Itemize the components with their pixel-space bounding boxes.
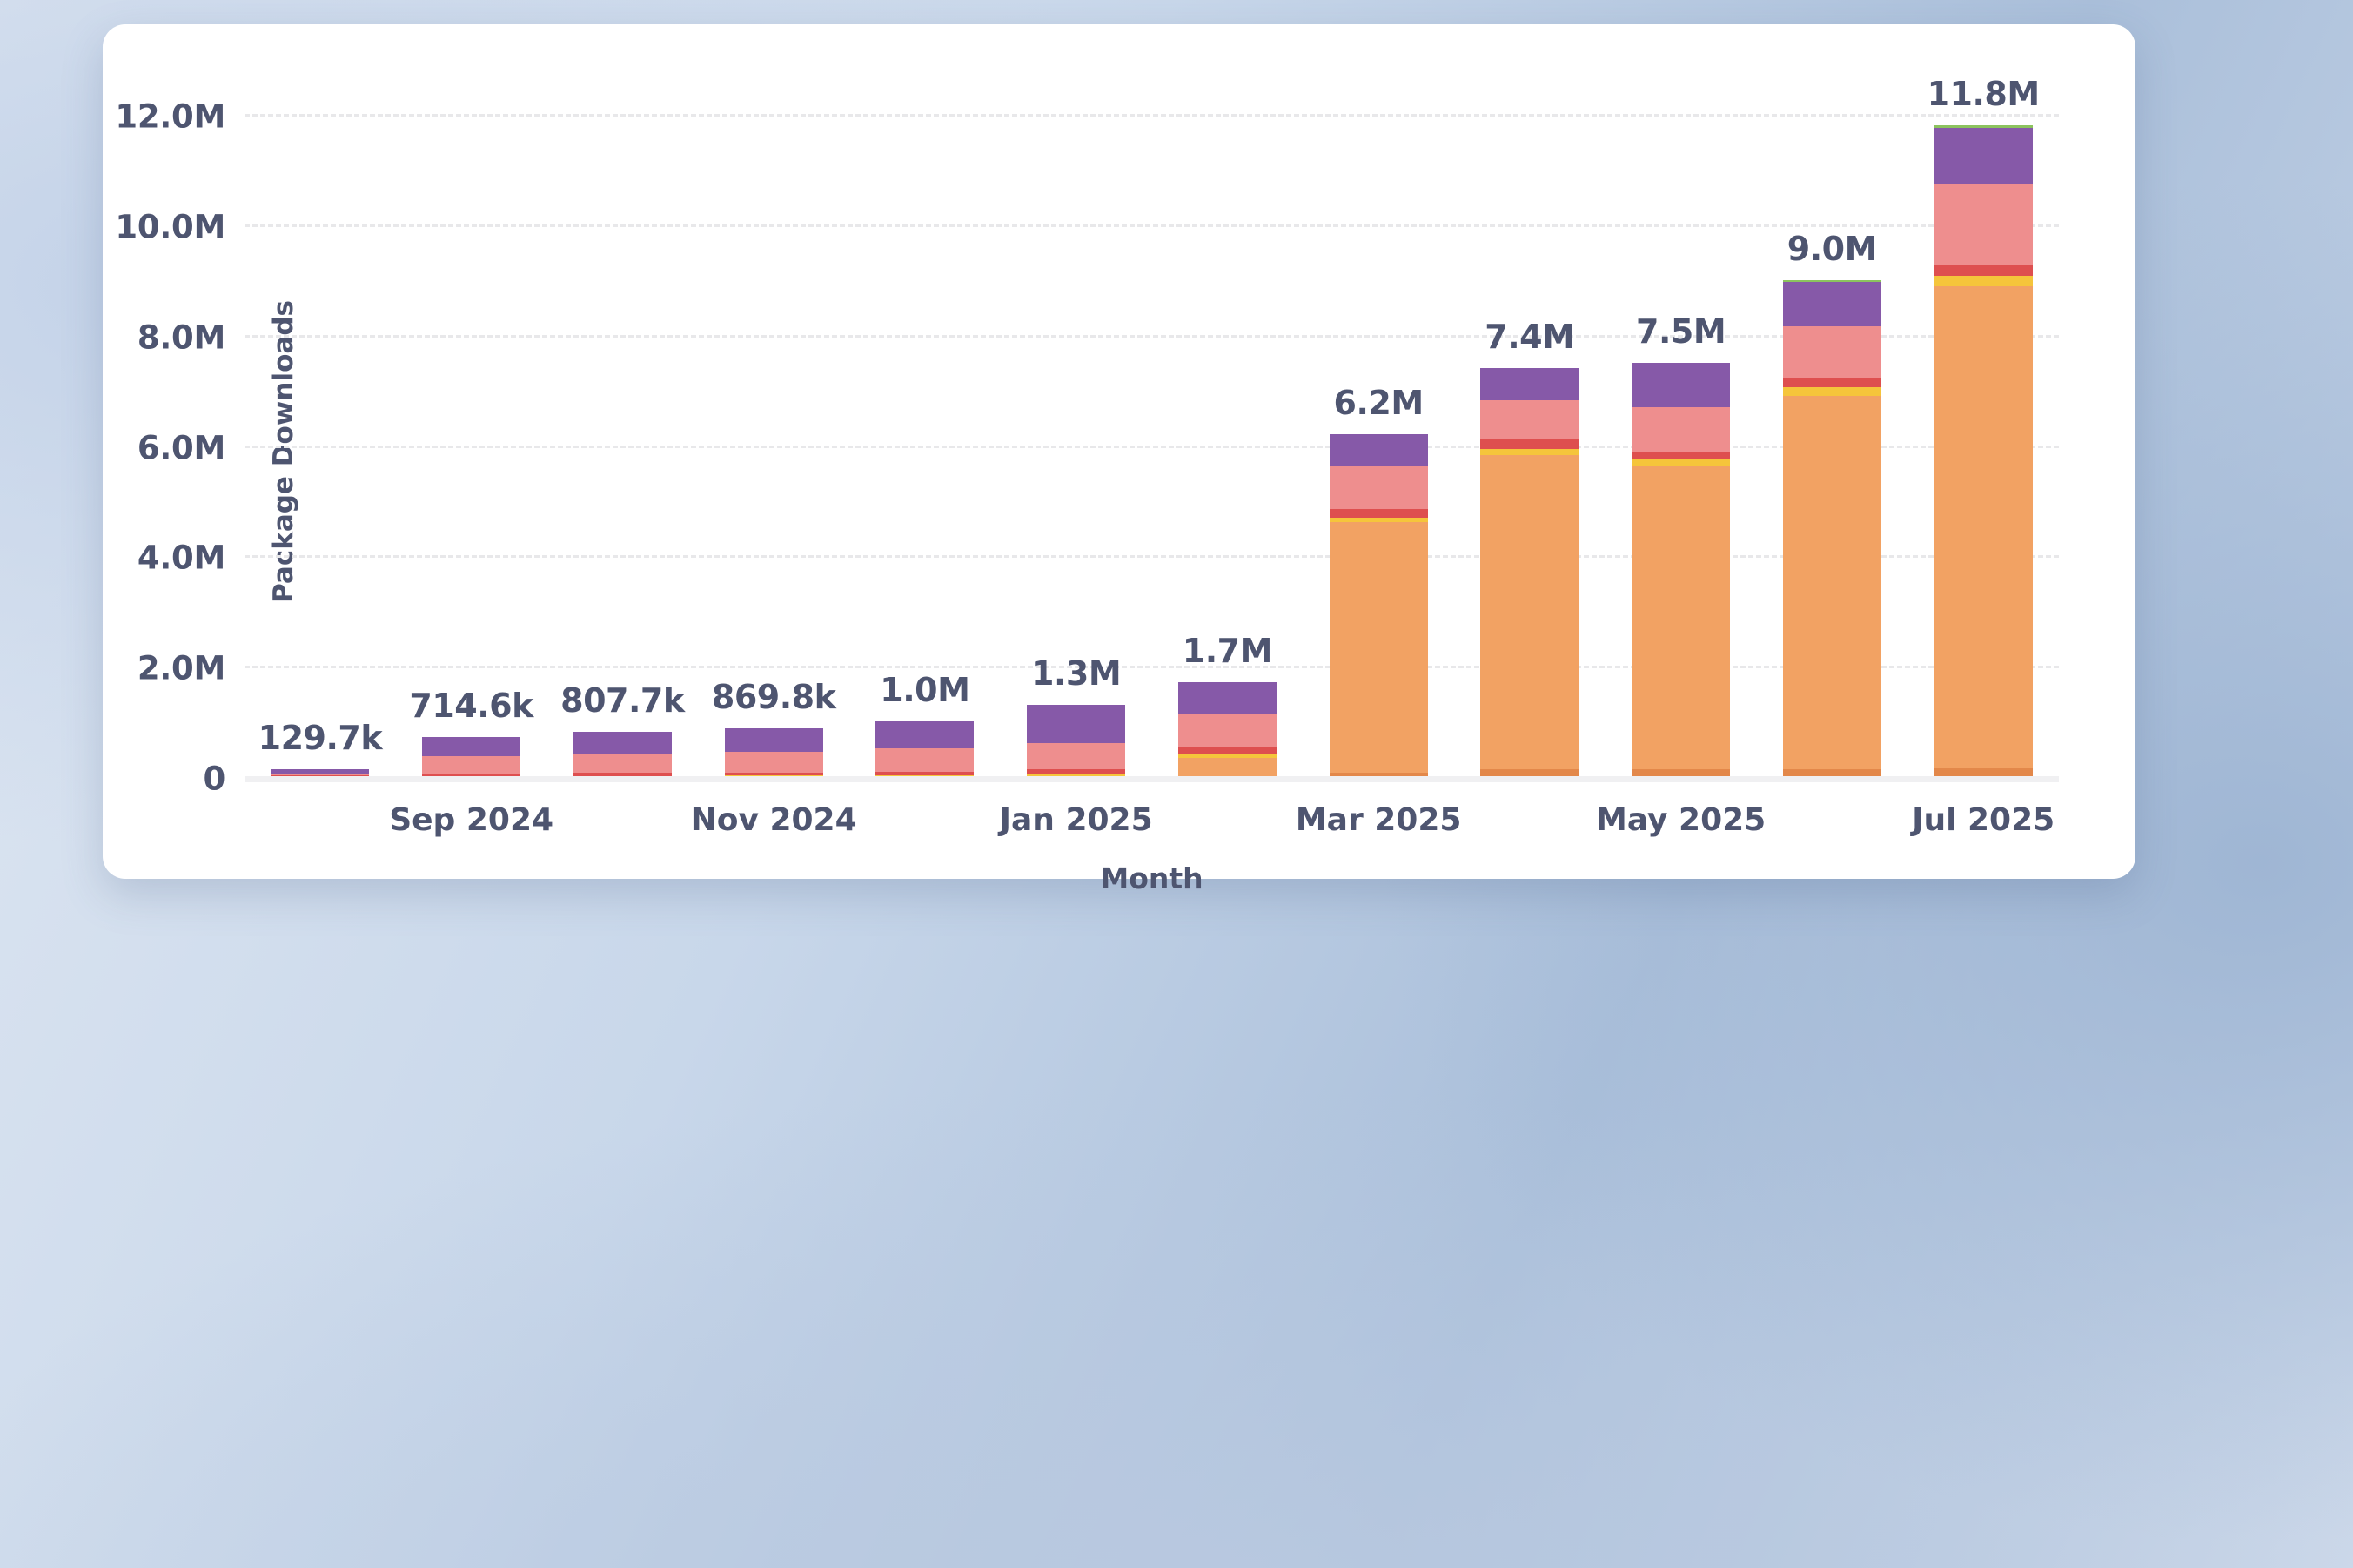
x-axis-tick-label: Jan 2025 xyxy=(1000,802,1153,838)
bar-column[interactable]: 129.7k xyxy=(245,92,396,776)
x-axis-title: Month xyxy=(245,861,2059,895)
x-axis-tick-label: Jul 2025 xyxy=(1912,802,2055,838)
bar-column[interactable]: 6.2MMar 2025 xyxy=(1303,92,1454,776)
segment-red[interactable] xyxy=(1178,747,1277,754)
segment-purple[interactable] xyxy=(573,732,672,754)
x-axis-tick-label: May 2025 xyxy=(1596,802,1766,838)
plot-area: 02.0M4.0M6.0M8.0M10.0M12.0M 129.7k714.6k… xyxy=(245,92,2059,782)
stacked-bar[interactable]: 129.7k xyxy=(271,769,369,776)
stacked-bar[interactable]: 11.8M xyxy=(1934,125,2033,776)
segment-purple[interactable] xyxy=(1632,363,1730,407)
bar-total-label: 7.4M xyxy=(1485,318,1574,356)
bar-column[interactable]: 807.7k xyxy=(547,92,699,776)
segment-salmon[interactable] xyxy=(1632,407,1730,452)
segment-purple[interactable] xyxy=(1934,128,2033,184)
bar-column[interactable]: 714.6kSep 2024 xyxy=(396,92,547,776)
bar-total-label: 1.3M xyxy=(1031,654,1121,693)
bar-total-label: 6.2M xyxy=(1334,384,1424,422)
segment-yellow[interactable] xyxy=(1783,387,1881,396)
bar-column[interactable]: 869.8kNov 2024 xyxy=(698,92,849,776)
x-axis-line xyxy=(245,776,2059,782)
segment-light-orange[interactable] xyxy=(1934,286,2033,768)
segment-red[interactable] xyxy=(1632,452,1730,460)
bar-column[interactable]: 1.7M xyxy=(1152,92,1304,776)
bar-total-label: 1.0M xyxy=(880,671,969,709)
chart-canvas: Package Downloads 02.0M4.0M6.0M8.0M10.0M… xyxy=(103,24,2135,879)
segment-salmon[interactable] xyxy=(875,748,974,772)
x-axis-tick-label: Sep 2024 xyxy=(389,802,553,838)
segment-light-orange[interactable] xyxy=(1178,758,1277,776)
segment-red[interactable] xyxy=(1783,378,1881,386)
segment-purple[interactable] xyxy=(1178,682,1277,714)
stacked-bar[interactable]: 1.3M xyxy=(1027,705,1125,776)
stacked-bar[interactable]: 7.5M xyxy=(1632,363,1730,776)
segment-salmon[interactable] xyxy=(573,754,672,774)
y-axis-tick-label: 2.0M xyxy=(137,650,225,687)
y-axis-tick-label: 4.0M xyxy=(137,539,225,577)
stacked-bar[interactable]: 1.0M xyxy=(875,721,974,776)
segment-red[interactable] xyxy=(1330,509,1428,518)
segment-salmon[interactable] xyxy=(1027,743,1125,769)
bar-total-label: 11.8M xyxy=(1927,75,2040,113)
segment-salmon[interactable] xyxy=(1480,400,1579,439)
bar-total-label: 807.7k xyxy=(560,681,684,720)
stacked-bar[interactable]: 807.7k xyxy=(573,732,672,776)
segment-purple[interactable] xyxy=(725,728,823,752)
bar-column[interactable]: 1.0M xyxy=(849,92,1001,776)
segment-salmon[interactable] xyxy=(1934,184,2033,265)
stacked-bar[interactable]: 869.8k xyxy=(725,728,823,776)
bar-column[interactable]: 11.8MJul 2025 xyxy=(1907,92,2059,776)
segment-light-orange[interactable] xyxy=(1632,466,1730,768)
segment-dark-orange[interactable] xyxy=(1480,769,1579,776)
segment-yellow[interactable] xyxy=(1934,276,2033,286)
segment-purple[interactable] xyxy=(1330,434,1428,466)
bar-column[interactable]: 7.5MMay 2025 xyxy=(1606,92,1757,776)
y-axis-tick-label: 10.0M xyxy=(115,209,225,246)
bar-total-label: 1.7M xyxy=(1183,632,1272,670)
bar-total-label: 869.8k xyxy=(712,678,835,716)
chart-card: Package Downloads 02.0M4.0M6.0M8.0M10.0M… xyxy=(103,24,2135,879)
stacked-bar[interactable]: 714.6k xyxy=(422,737,520,776)
segment-purple[interactable] xyxy=(1783,282,1881,326)
stacked-bar[interactable]: 1.7M xyxy=(1178,682,1277,776)
segment-light-orange[interactable] xyxy=(1330,522,1428,773)
segment-salmon[interactable] xyxy=(1330,466,1428,509)
bar-column[interactable]: 7.4M xyxy=(1454,92,1606,776)
segment-red[interactable] xyxy=(1934,265,2033,276)
y-axis-tick-label: 0 xyxy=(204,761,225,798)
x-axis-tick-label: Nov 2024 xyxy=(691,802,857,838)
segment-dark-orange[interactable] xyxy=(1783,769,1881,776)
y-axis-tick-label: 12.0M xyxy=(115,98,225,136)
segment-salmon[interactable] xyxy=(1178,714,1277,747)
bar-series-group: 129.7k714.6kSep 2024807.7k869.8kNov 2024… xyxy=(245,92,2059,776)
segment-red[interactable] xyxy=(1480,439,1579,448)
bar-total-label: 7.5M xyxy=(1636,312,1726,351)
bar-column[interactable]: 9.0M xyxy=(1757,92,1908,776)
segment-yellow[interactable] xyxy=(1480,449,1579,456)
stacked-bar[interactable]: 6.2M xyxy=(1330,434,1428,776)
segment-dark-orange[interactable] xyxy=(1632,769,1730,776)
stacked-bar[interactable]: 9.0M xyxy=(1783,280,1881,776)
segment-purple[interactable] xyxy=(875,721,974,749)
x-axis-tick-label: Mar 2025 xyxy=(1296,802,1462,838)
bar-column[interactable]: 1.3MJan 2025 xyxy=(1001,92,1152,776)
segment-purple[interactable] xyxy=(1027,705,1125,743)
y-axis-tick-label: 6.0M xyxy=(137,429,225,466)
segment-purple[interactable] xyxy=(422,737,520,756)
y-axis-tick-label: 8.0M xyxy=(137,318,225,356)
stacked-bar[interactable]: 7.4M xyxy=(1480,368,1579,776)
segment-salmon[interactable] xyxy=(725,752,823,773)
segment-salmon[interactable] xyxy=(422,756,520,774)
bar-total-label: 714.6k xyxy=(409,687,533,725)
segment-yellow[interactable] xyxy=(1632,459,1730,466)
bar-total-label: 9.0M xyxy=(1787,230,1877,268)
segment-light-orange[interactable] xyxy=(1480,455,1579,769)
segment-dark-orange[interactable] xyxy=(1934,768,2033,776)
bar-total-label: 129.7k xyxy=(258,719,382,757)
segment-purple[interactable] xyxy=(1480,368,1579,400)
segment-salmon[interactable] xyxy=(1783,326,1881,379)
segment-light-orange[interactable] xyxy=(1783,396,1881,769)
